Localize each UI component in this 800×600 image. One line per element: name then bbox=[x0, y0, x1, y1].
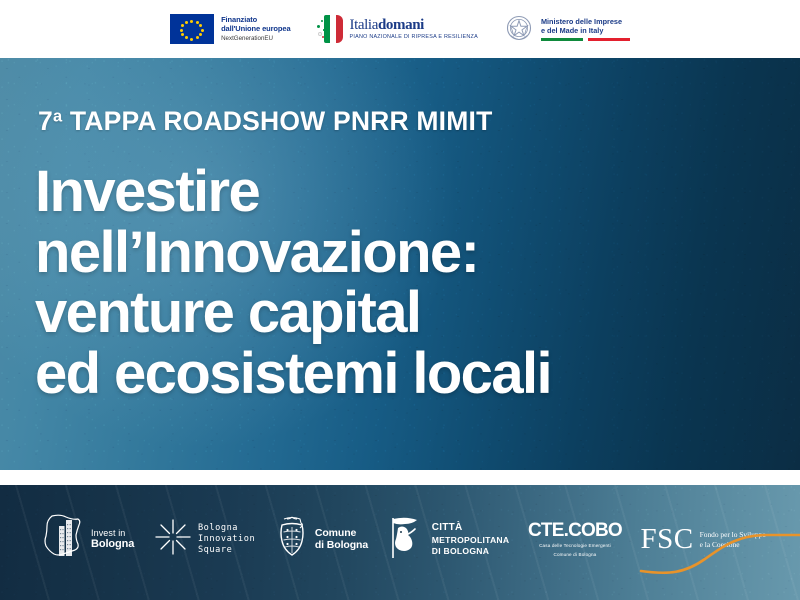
citta-line-1: CITTÀ bbox=[432, 522, 510, 535]
invest-in-bologna-label: Invest in Bologna bbox=[91, 528, 134, 550]
partner-cte-cobo: CTE.COBO Casa delle Tecnologie Emergenti… bbox=[528, 521, 622, 558]
bis-label: Bologna Innovation Square bbox=[198, 523, 255, 557]
bis-line-1: Bologna bbox=[198, 523, 255, 534]
partner-citta-metropolitana: CITTÀ METROPOLITANA DI BOLOGNA bbox=[387, 514, 510, 565]
ministero-text: Ministero delle Imprese e del Made in It… bbox=[541, 17, 630, 35]
title-line-2: nell’Innovazione: bbox=[35, 223, 551, 284]
starburst-icon bbox=[153, 517, 193, 562]
italiadomani-name-light: Italia bbox=[350, 17, 378, 33]
eu-funding-logo: Finanziato dall'Unione europea NextGener… bbox=[170, 14, 290, 44]
republic-emblem-icon bbox=[504, 13, 534, 45]
italiadomani-subtitle: PIANO NAZIONALE DI RIPRESA E RESILIENZA bbox=[350, 35, 478, 41]
ministero-imprese-logo: Ministero delle Imprese e del Made in It… bbox=[504, 13, 630, 45]
partner-fsc: FSC Fondo per lo Sviluppo e la Coesione bbox=[641, 525, 766, 554]
partner-comune-di-bologna: Comune di Bologna bbox=[274, 514, 368, 565]
italiadomani-label: Italiadomani PIANO NAZIONALE DI RIPRESA … bbox=[350, 17, 478, 41]
poster-root: Finanziato dall'Unione europea NextGener… bbox=[0, 0, 800, 600]
italiadomani-logo: Italiadomani PIANO NAZIONALE DI RIPRESA … bbox=[317, 14, 478, 44]
italian-flag-icon bbox=[317, 14, 343, 44]
cte-subtitle-2: Comune di Bologna bbox=[528, 552, 622, 558]
page-title: Investire nell’Innovazione: venture capi… bbox=[35, 162, 551, 404]
italiadomani-name-bold: domani bbox=[378, 17, 424, 33]
fsc-line-1: Fondo per lo Sviluppo bbox=[700, 530, 766, 540]
partner-logo-row: Invest in Bologna bbox=[0, 485, 800, 600]
comune-line-1: Comune bbox=[315, 528, 368, 540]
citta-line-3: DI BOLOGNA bbox=[432, 546, 510, 557]
institutional-logo-bar: Finanziato dall'Unione europea NextGener… bbox=[0, 0, 800, 58]
hero-banner: 7a TAPPA ROADSHOW PNRR MIMIT Investire n… bbox=[0, 58, 800, 470]
ministero-line-2: e del Made in Italy bbox=[541, 26, 630, 35]
hero-content: 7a TAPPA ROADSHOW PNRR MIMIT Investire n… bbox=[38, 58, 780, 470]
comune-line-2: di Bologna bbox=[315, 540, 368, 552]
kicker-rest: TAPPA ROADSHOW PNRR MIMIT bbox=[62, 106, 492, 136]
italiadomani-wordmark: Italiadomani bbox=[350, 17, 478, 34]
eu-line-3: NextGenerationEU bbox=[221, 35, 290, 42]
eu-flag-icon bbox=[170, 14, 214, 44]
partner-invest-in-bologna: Invest in Bologna bbox=[40, 512, 134, 567]
kicker-ordinal: a bbox=[53, 107, 62, 125]
fsc-subtitle: Fondo per lo Sviluppo e la Coesione bbox=[700, 530, 766, 550]
title-line-1: Investire bbox=[35, 162, 551, 223]
invest-line-1: Invest in bbox=[91, 528, 134, 538]
lion-banner-icon bbox=[387, 514, 427, 565]
partner-bologna-innovation-square: Bologna Innovation Square bbox=[153, 517, 255, 562]
tricolor-bars-icon bbox=[541, 38, 630, 41]
citta-line-2: METROPOLITANA bbox=[432, 535, 510, 546]
section-divider bbox=[0, 470, 800, 485]
title-line-4: ed ecosistemi locali bbox=[35, 344, 551, 405]
bologna-map-towers-icon bbox=[40, 512, 86, 567]
title-line-3: venture capital bbox=[35, 283, 551, 344]
cte-wordmark: CTE.COBO bbox=[528, 521, 622, 540]
tricolor-flag-icon bbox=[324, 15, 343, 43]
comune-label: Comune di Bologna bbox=[315, 528, 368, 552]
bis-line-2: Innovation bbox=[198, 534, 255, 545]
event-kicker: 7a TAPPA ROADSHOW PNRR MIMIT bbox=[38, 106, 492, 137]
partner-logo-bar: Invest in Bologna bbox=[0, 485, 800, 600]
citta-label: CITTÀ METROPOLITANA DI BOLOGNA bbox=[432, 522, 510, 557]
comune-crest-icon bbox=[274, 514, 310, 565]
ministero-label: Ministero delle Imprese e del Made in It… bbox=[541, 17, 630, 41]
ministero-line-1: Ministero delle Imprese bbox=[541, 17, 630, 26]
eu-line-2: dall'Unione europea bbox=[221, 25, 290, 34]
eu-funding-label: Finanziato dall'Unione europea NextGener… bbox=[221, 16, 290, 42]
fsc-line-2: e la Coesione bbox=[700, 540, 766, 550]
invest-line-2: Bologna bbox=[91, 538, 134, 550]
fsc-wordmark: FSC bbox=[641, 525, 694, 554]
cte-subtitle-1: Casa delle Tecnologie Emergenti bbox=[528, 543, 622, 549]
cte-cobo-label: CTE.COBO Casa delle Tecnologie Emergenti… bbox=[528, 521, 622, 558]
bis-line-3: Square bbox=[198, 545, 255, 556]
kicker-number: 7 bbox=[38, 106, 53, 136]
